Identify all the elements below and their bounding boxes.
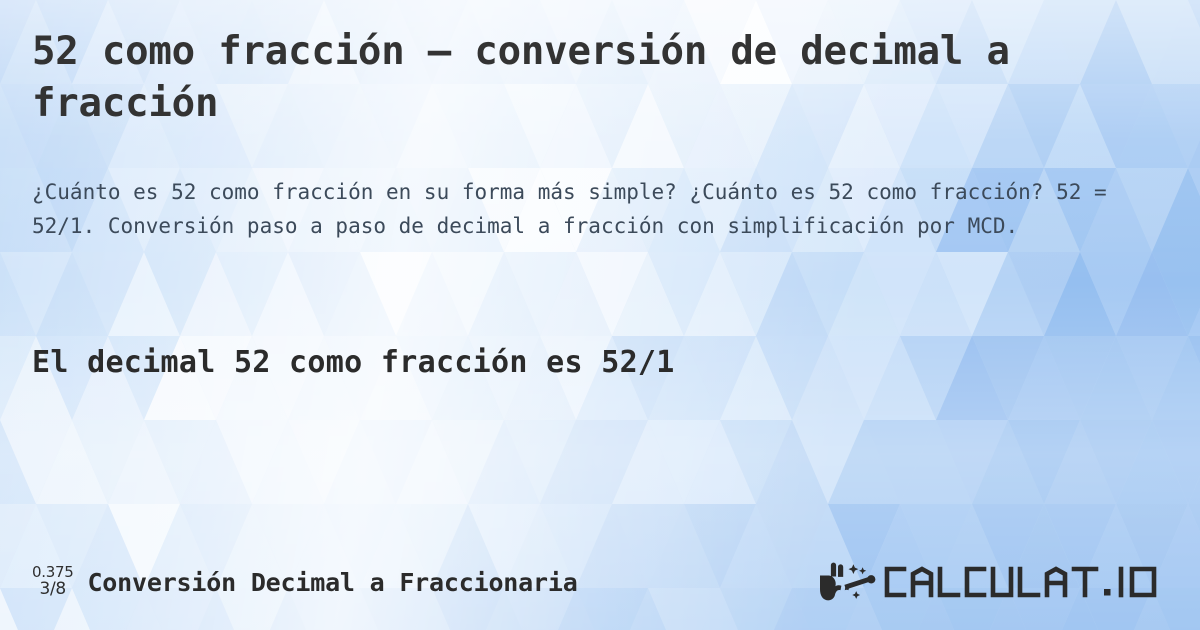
footer-brand-left: 0.375 3/8 Conversión Decimal a Fracciona… (32, 565, 578, 599)
footer-brand-title: Conversión Decimal a Fraccionaria (87, 568, 577, 597)
share-card: 52 como fracción – conversión de decimal… (0, 0, 1200, 630)
card-footer: 0.375 3/8 Conversión Decimal a Fracciona… (0, 556, 1200, 608)
fraction-logo-denominator: 3/8 (39, 581, 65, 599)
card-content: 52 como fracción – conversión de decimal… (0, 0, 1200, 630)
answer-statement: El decimal 52 como fracción es 52/1 (32, 345, 675, 380)
page-description: ¿Cuánto es 52 como fracción en su forma … (32, 175, 1168, 243)
calculatio-wordmark (880, 562, 1168, 602)
fraction-logo-icon: 0.375 3/8 (32, 565, 73, 599)
site-logo[interactable] (820, 560, 1168, 604)
hand-magic-wand-icon (820, 560, 876, 604)
page-title: 52 como fracción – conversión de decimal… (32, 26, 1042, 130)
